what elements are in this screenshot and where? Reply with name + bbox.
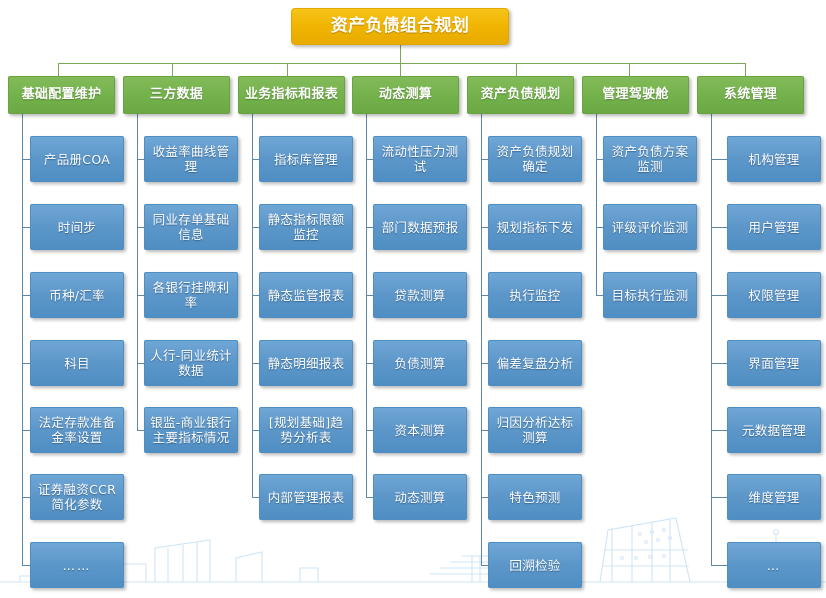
connector-stub-7-2 [711, 227, 727, 228]
connector-spine-2 [137, 113, 138, 431]
connector-stub-7-3 [711, 295, 727, 296]
leaf-node-1-2[interactable]: 时间步 [30, 204, 124, 250]
leaf-node-5-4[interactable]: 偏差复盘分析 [488, 340, 582, 386]
connector-spine-6 [596, 113, 597, 295]
leaf-node-2-4[interactable]: 人行-同业统计数据 [144, 340, 238, 386]
leaf-node-4-4[interactable]: 负债测算 [373, 340, 467, 386]
leaf-node-7-4[interactable]: 界面管理 [727, 340, 821, 386]
root-node[interactable]: 资产负债组合规划 [291, 8, 509, 45]
org-chart-canvas: 资产负债组合规划 基础配置维护 三方数据 业务指标和报表 动态测算 资产负债规划… [0, 0, 826, 598]
leaf-node-1-5[interactable]: 法定存款准备金率设置 [30, 407, 124, 453]
leaf-node-4-2[interactable]: 部门数据预报 [373, 204, 467, 250]
leaf-node-4-1[interactable]: 流动性压力测试 [373, 136, 467, 182]
leaf-node-4-5[interactable]: 资本测算 [373, 407, 467, 453]
connector-category-drop-1 [58, 63, 59, 76]
leaf-node-7-6[interactable]: 维度管理 [727, 474, 821, 520]
connector-stub-7-6 [711, 497, 727, 498]
connector-category-bus [58, 63, 745, 64]
leaf-node-5-5[interactable]: 归因分析达标测算 [488, 407, 582, 453]
leaf-node-2-1[interactable]: 收益率曲线管理 [144, 136, 238, 182]
leaf-node-4-3[interactable]: 贷款测算 [373, 272, 467, 318]
leaf-node-4-6[interactable]: 动态测算 [373, 474, 467, 520]
leaf-node-5-6[interactable]: 特色预测 [488, 474, 582, 520]
connector-stub-7-5 [711, 430, 727, 431]
category-node-6[interactable]: 管理驾驶舱 [582, 76, 689, 114]
leaf-node-7-3[interactable]: 权限管理 [727, 272, 821, 318]
leaf-node-3-4[interactable]: 静态明细报表 [259, 340, 353, 386]
connector-category-drop-6 [629, 63, 630, 76]
leaf-node-6-3[interactable]: 目标执行监测 [603, 272, 697, 318]
leaf-node-6-1[interactable]: 资产负债方案监测 [603, 136, 697, 182]
leaf-node-3-2[interactable]: 静态指标限额监控 [259, 204, 353, 250]
connector-category-drop-4 [400, 63, 401, 76]
leaf-node-3-5[interactable]: [规划基础]趋势分析表 [259, 407, 353, 453]
leaf-node-1-3[interactable]: 币种/汇率 [30, 272, 124, 318]
connector-stub-7-1 [711, 159, 727, 160]
category-node-2[interactable]: 三方数据 [123, 76, 230, 114]
leaf-node-2-2[interactable]: 同业存单基础信息 [144, 204, 238, 250]
connector-category-drop-7 [745, 63, 746, 76]
connector-spine-4 [366, 113, 367, 498]
category-node-7[interactable]: 系统管理 [697, 76, 804, 114]
leaf-node-2-3[interactable]: 各银行挂牌利率 [144, 272, 238, 318]
leaf-node-5-1[interactable]: 资产负债规划确定 [488, 136, 582, 182]
leaf-node-7-5[interactable]: 元数据管理 [727, 407, 821, 453]
leaf-node-6-2[interactable]: 评级评价监测 [603, 204, 697, 250]
leaf-node-3-3[interactable]: 静态监管报表 [259, 272, 353, 318]
leaf-node-1-1[interactable]: 产品册COA [30, 136, 124, 182]
category-node-4[interactable]: 动态测算 [352, 76, 459, 114]
connector-category-drop-5 [516, 63, 517, 76]
category-node-1[interactable]: 基础配置维护 [8, 76, 115, 114]
leaf-node-1-4[interactable]: 科目 [30, 340, 124, 386]
leaf-node-3-1[interactable]: 指标库管理 [259, 136, 353, 182]
leaf-node-7-1[interactable]: 机构管理 [727, 136, 821, 182]
leaf-node-2-5[interactable]: 银监-商业银行主要指标情况 [144, 407, 238, 453]
leaf-node-5-7[interactable]: 回溯检验 [488, 542, 582, 588]
connector-stub-7-7 [711, 565, 727, 566]
leaf-node-5-2[interactable]: 规划指标下发 [488, 204, 582, 250]
connector-stub-7-4 [711, 363, 727, 364]
connector-category-drop-2 [172, 63, 173, 76]
category-node-5[interactable]: 资产负债规划 [467, 76, 574, 114]
connector-category-drop-3 [287, 63, 288, 76]
leaf-node-3-6[interactable]: 内部管理报表 [259, 474, 353, 520]
leaf-node-1-7[interactable]: …… [30, 542, 124, 588]
leaf-node-1-6[interactable]: 证券融资CCR简化参数 [30, 474, 124, 520]
category-node-3[interactable]: 业务指标和报表 [238, 76, 345, 114]
leaf-node-7-2[interactable]: 用户管理 [727, 204, 821, 250]
connector-root-stem [400, 44, 401, 63]
connector-spine-3 [252, 113, 253, 498]
leaf-node-7-7[interactable]: … [727, 542, 821, 588]
leaf-node-5-3[interactable]: 执行监控 [488, 272, 582, 318]
